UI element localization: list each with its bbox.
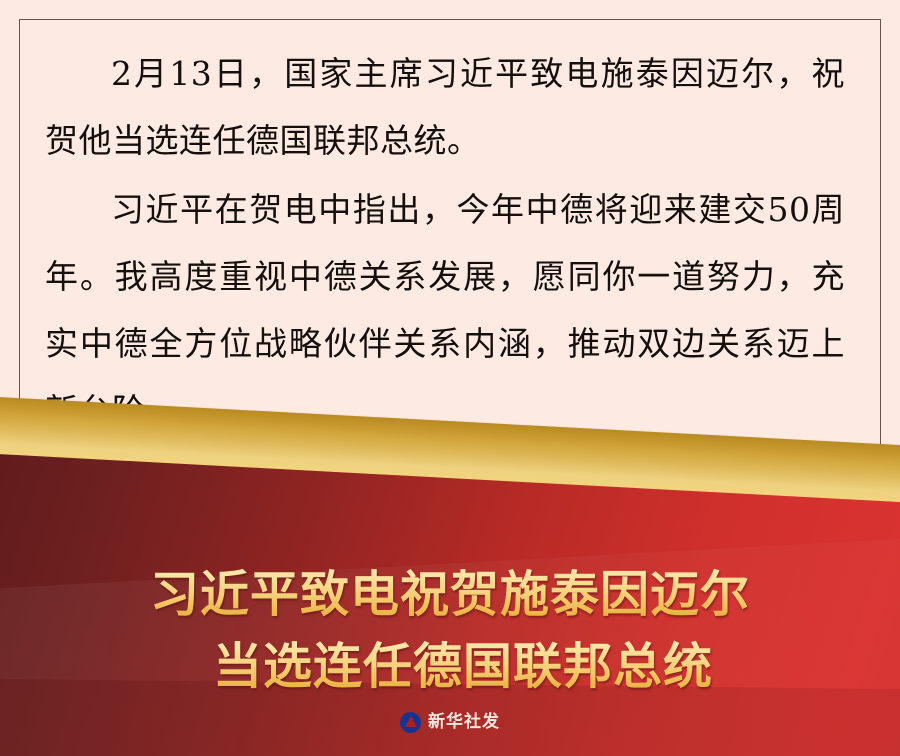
red-banner <box>0 452 900 756</box>
document-paragraph-1: 2月13日，国家主席习近平致电施泰因迈尔，祝贺他当选连任德国联邦总统。 <box>45 40 845 174</box>
credit-text: 新华社发 <box>428 712 500 733</box>
xinhua-logo-icon <box>400 712 421 733</box>
document-paragraph-2: 习近平在贺电中指出，今年中德将迎来建交50周年。我高度重视中德关系发展，愿同你一… <box>45 176 845 444</box>
document-body: 2月13日，国家主席习近平致电施泰因迈尔，祝贺他当选连任德国联邦总统。 习近平在… <box>45 40 845 446</box>
news-poster: 2月13日，国家主席习近平致电施泰因迈尔，祝贺他当选连任德国联邦总统。 习近平在… <box>0 0 900 756</box>
document-panel: 2月13日，国家主席习近平致电施泰因迈尔，祝贺他当选连任德国联邦总统。 习近平在… <box>0 0 900 470</box>
credit-line: 新华社发 <box>0 712 900 733</box>
